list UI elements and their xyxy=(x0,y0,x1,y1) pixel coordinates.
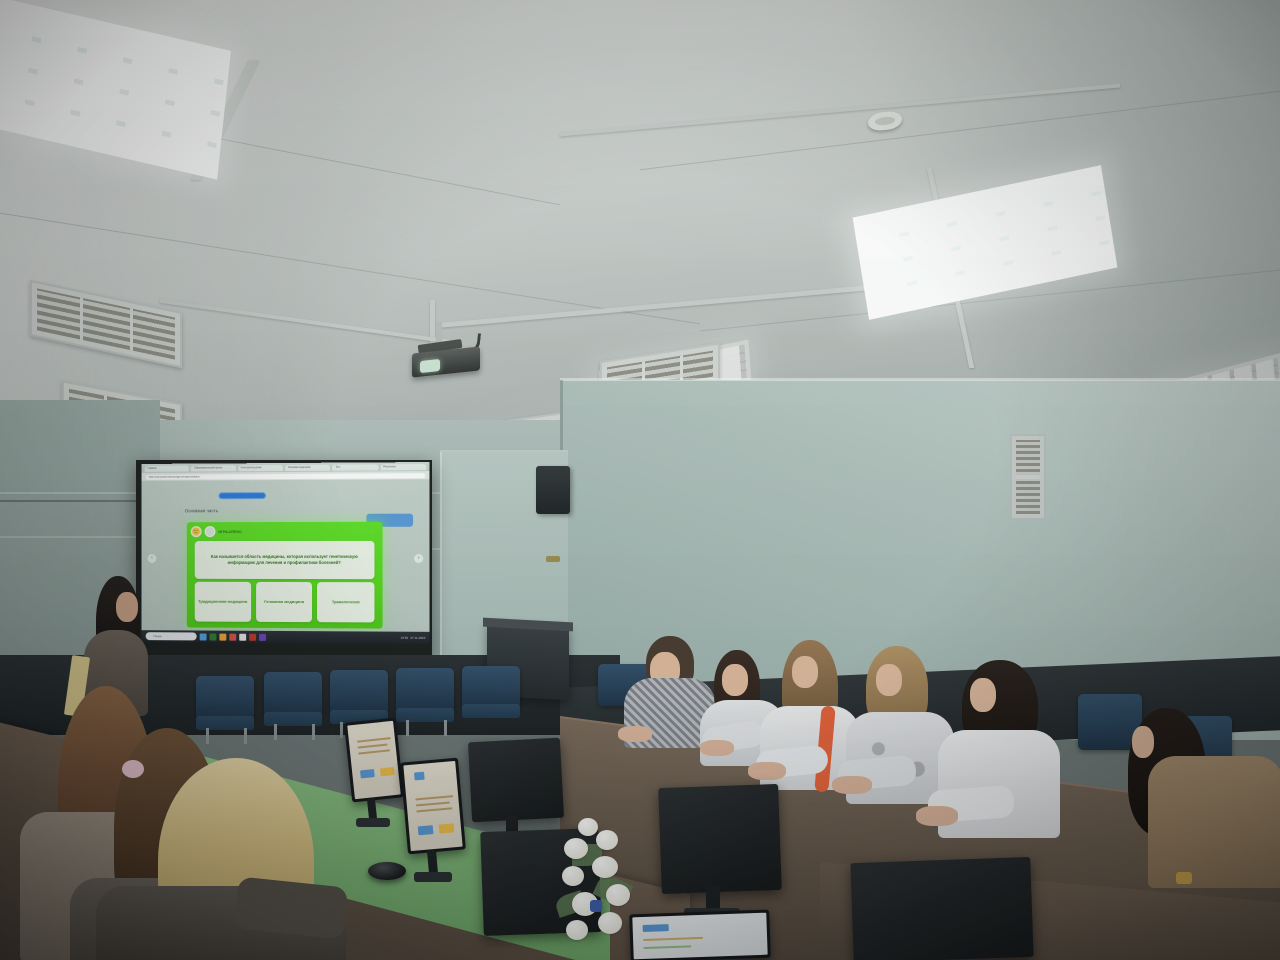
page-progress-pill[interactable] xyxy=(218,492,266,499)
chair-leg xyxy=(444,720,447,736)
quiz-counter: 1 / 10 xyxy=(366,529,374,533)
flower-accent xyxy=(590,900,602,912)
quiz-card: 🙂 ИГРА-ОПРОС 1 / 10 Как называется облас… xyxy=(187,522,383,629)
face xyxy=(722,664,748,696)
chair[interactable] xyxy=(330,670,388,714)
chevron-right-icon[interactable]: › xyxy=(414,554,423,563)
monitor-base xyxy=(414,872,452,882)
taskbar-app-icon[interactable] xyxy=(249,633,256,640)
monitor-rear[interactable] xyxy=(658,784,782,894)
chair[interactable] xyxy=(264,672,322,716)
monitor-rear[interactable] xyxy=(850,857,1033,960)
conference-room-photo: Главная Образовательный портал Конструкт… xyxy=(0,0,1280,960)
quiz-option-label: Традиционная медицина xyxy=(198,599,247,605)
taskbar-date: 27.11.2024 xyxy=(410,636,425,640)
microphone-puck[interactable] xyxy=(368,862,406,880)
door-handle[interactable] xyxy=(546,556,560,562)
hands xyxy=(748,762,786,780)
chair-leg xyxy=(244,728,247,744)
quiz-option-1[interactable]: Традиционная медицина xyxy=(195,582,251,622)
quiz-card-header: 🙂 ИГРА-ОПРОС 1 / 10 xyxy=(191,525,379,538)
quiz-title: ИГРА-ОПРОС xyxy=(218,530,241,534)
wall-vent-grille xyxy=(1010,434,1046,520)
chair[interactable] xyxy=(196,676,254,720)
projection-screen: Главная Образовательный портал Конструкт… xyxy=(142,462,430,644)
taskbar-app-icon[interactable] xyxy=(200,633,207,640)
browser-tab[interactable]: Главная xyxy=(145,465,189,471)
face xyxy=(876,664,902,696)
flower-arrangement xyxy=(548,808,652,958)
hoodie-detail xyxy=(1176,872,1192,884)
face xyxy=(116,592,138,622)
emoji-smile-icon: 🙂 xyxy=(191,526,202,537)
face xyxy=(792,656,818,688)
section-label: Основная часть xyxy=(185,508,218,513)
browser-tab[interactable]: Тест xyxy=(332,464,378,470)
web-page-content: Основная часть 🙂 ИГРА-ОПРОС 1 / 10 Как н… xyxy=(142,479,430,632)
monitor-stand xyxy=(367,798,377,821)
taskbar-app-icon[interactable] xyxy=(239,633,246,640)
taskbar-app-icon[interactable] xyxy=(259,633,266,640)
chair-leg xyxy=(206,728,209,744)
chair-leg xyxy=(312,724,315,740)
taskbar-app-icon[interactable] xyxy=(229,633,236,640)
chair-leg xyxy=(340,722,343,738)
wall-speaker xyxy=(536,466,570,514)
url-input[interactable]: https://edu-portal.ru/lesson/genomnaya-m… xyxy=(146,473,426,480)
projector-lens xyxy=(420,359,440,373)
hands xyxy=(700,740,734,756)
torso xyxy=(938,730,1060,838)
chair-leg xyxy=(274,724,277,740)
chair-leg xyxy=(406,720,409,736)
browser-tab[interactable]: Конструктор урока xyxy=(238,465,283,471)
quiz-option-2[interactable]: Геномная медицина xyxy=(256,582,313,622)
hands xyxy=(618,726,652,742)
chair-seat xyxy=(462,704,520,718)
chair[interactable] xyxy=(462,666,520,708)
hair-clip xyxy=(122,760,144,778)
browser-tab[interactable]: Образовательный портал xyxy=(191,465,236,471)
chair[interactable] xyxy=(396,668,454,712)
quiz-option-label: Геномная медицина xyxy=(264,599,304,605)
quiz-options: Традиционная медицина Геномная медицина … xyxy=(195,582,375,623)
quiz-question: Как называется область медицины, которая… xyxy=(195,541,375,579)
torso xyxy=(1148,756,1280,888)
taskbar-app-icon[interactable] xyxy=(210,633,217,640)
chevron-left-icon[interactable]: ‹ xyxy=(148,554,157,563)
monitor-base xyxy=(356,818,390,827)
taskbar-tray[interactable]: 14:52 27.11.2024 xyxy=(401,636,426,640)
quiz-question-text: Как называется область медицины, которая… xyxy=(201,554,369,566)
browser-tab[interactable]: Геномная медицина xyxy=(285,464,330,470)
quiz-option-3[interactable]: Траволечение xyxy=(317,582,374,622)
delegate-monitor-1[interactable] xyxy=(344,718,404,803)
taskbar-app-icon[interactable] xyxy=(219,633,226,640)
right-wall-top-edge xyxy=(560,378,1280,381)
face xyxy=(970,678,996,712)
windows-taskbar: Поиск 14:52 27.11.2024 xyxy=(142,630,430,644)
quiz-option-label: Траволечение xyxy=(332,599,360,605)
hands xyxy=(832,776,872,794)
delegate-monitor-2[interactable] xyxy=(400,758,466,855)
hands xyxy=(916,806,958,826)
face xyxy=(1132,726,1154,758)
browser-tab[interactable]: Результаты xyxy=(380,464,426,470)
taskbar-search-input[interactable]: Поиск xyxy=(146,632,197,640)
user-circle-icon xyxy=(205,526,216,537)
taskbar-clock: 14:52 xyxy=(401,636,409,640)
